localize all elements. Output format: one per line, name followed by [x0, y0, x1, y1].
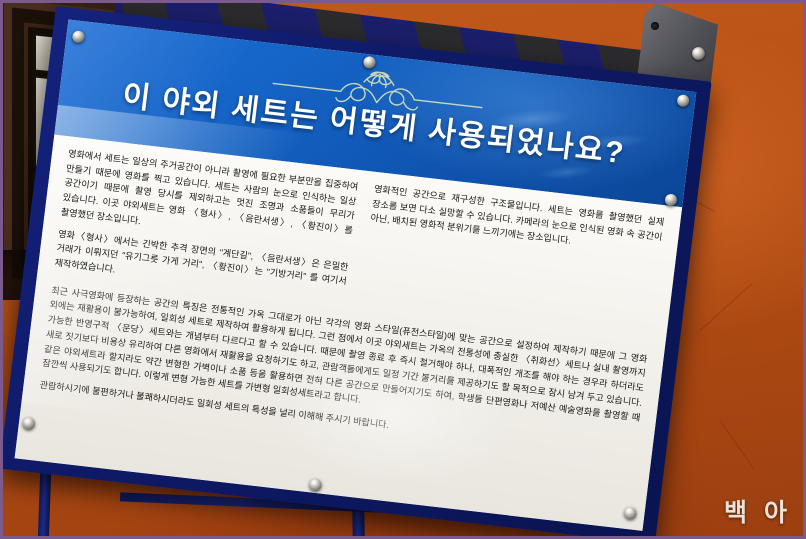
photograph: 이 야외 세트는 어떻게 사용되었나요? 영화에서 세트는 일상의 주거공간이 …: [0, 0, 806, 539]
photo-watermark: 백 아: [724, 493, 792, 529]
bracket-bolt-icon: [692, 47, 705, 60]
bracket-hole-icon: [651, 22, 659, 30]
text-column-right: 영화적인 공간으로 재구성한 구조물입니다. 세트는 영화를 촬영했던 실제 장…: [359, 182, 665, 346]
sign-acrylic-panel: 이 야외 세트는 어떻게 사용되었나요? 영화에서 세트는 일상의 주거공간이 …: [15, 20, 697, 531]
information-sign-board[interactable]: 이 야외 세트는 어떻게 사용되었나요? 영화에서 세트는 일상의 주거공간이 …: [0, 6, 741, 539]
text-column-left: 영화에서 세트는 일상의 주거공간이 아니라 촬영에 필요한 부분만을 집중하여…: [53, 146, 359, 310]
